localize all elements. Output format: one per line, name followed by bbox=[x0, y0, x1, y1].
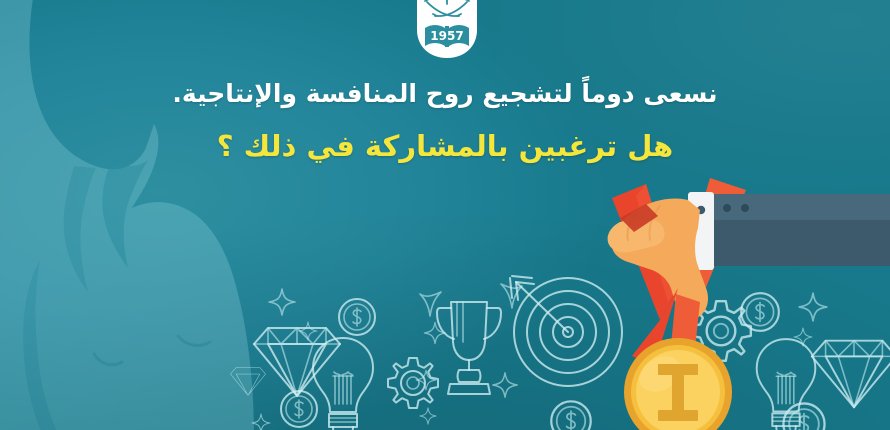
sparkle-icon bbox=[414, 368, 438, 392]
sparkle-icon bbox=[416, 290, 446, 324]
sparkle-icon bbox=[266, 286, 298, 318]
sparkle-icon bbox=[490, 370, 520, 400]
headline-line-2: هل ترغبين بالمشاركة في ذلك ؟ bbox=[0, 128, 890, 164]
promotional-banner: 1957 نسعى دوماً لتشجيع روح المنافسة والإ… bbox=[0, 0, 890, 430]
sparkle-icon bbox=[250, 412, 272, 430]
sparkle-icon bbox=[422, 320, 448, 346]
sparkle-icon bbox=[418, 406, 438, 426]
logo-year: 1957 bbox=[430, 29, 463, 43]
university-logo: 1957 bbox=[411, 0, 483, 66]
sleeve-button bbox=[723, 204, 731, 212]
lightbulb-icon bbox=[300, 332, 386, 430]
hand-ribbon-medal-illustration bbox=[560, 170, 890, 430]
headline-block: نسعى دوماً لتشجيع روح المنافسة والإنتاجي… bbox=[0, 78, 890, 165]
headline-line-1: نسعى دوماً لتشجيع روح المنافسة والإنتاجي… bbox=[0, 78, 890, 109]
sleeve-button bbox=[741, 204, 749, 212]
